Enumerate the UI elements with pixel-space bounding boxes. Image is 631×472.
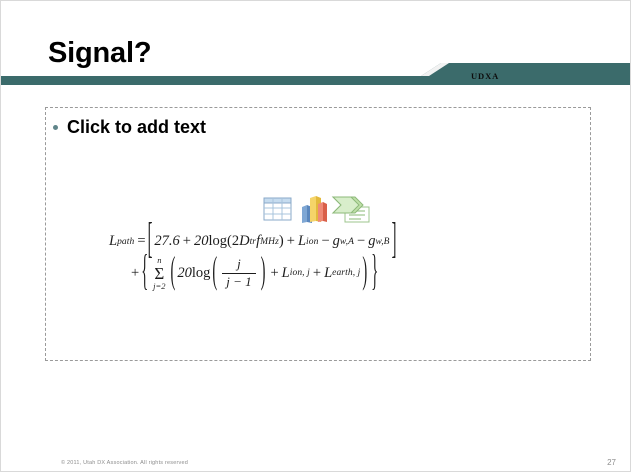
eq1-minus-1: − <box>321 233 329 250</box>
banner-shape <box>1 63 631 85</box>
equation-line-1: Lpath = [ 27.6 + 20log(2DtrfMHz) + Lion … <box>109 233 481 250</box>
eq1-d-var: D <box>239 233 249 250</box>
eq2-plus-2: + <box>270 265 278 282</box>
eq1-lion-sub: ion <box>306 237 318 247</box>
eq2-coef: 20 <box>177 265 192 282</box>
fraction-j-over-j-minus-1: j j − 1 <box>222 257 255 290</box>
insert-smartart-icon[interactable] <box>331 195 371 230</box>
eq1-coef: 20 <box>194 233 209 250</box>
eq1-g2-sub: w,B <box>375 237 389 247</box>
eq2-plus: + <box>131 265 139 282</box>
eq1-plus-2: + <box>287 233 295 250</box>
footer-page-number: 27 <box>607 458 616 467</box>
fraction-numerator: j <box>233 257 245 272</box>
eq1-lhs-var: L <box>109 233 117 250</box>
eq1-g1-sub: w,A <box>340 237 354 247</box>
eq2-open-brace: { <box>141 248 148 299</box>
placeholder-prompt-text: Click to add text <box>67 117 206 138</box>
eq1-close-paren: ) <box>279 233 284 250</box>
insert-object-icon-cluster <box>263 195 373 229</box>
eq2-plus-3: + <box>313 265 321 282</box>
sigma-icon: Σ <box>154 265 164 282</box>
eq1-g1-var: g <box>333 233 340 250</box>
eq2-inner-close-paren: ) <box>261 251 266 295</box>
eq2-close-brace: } <box>371 248 378 299</box>
eq2-lionj-sub: ion, j <box>290 268 310 278</box>
eq1-f-sub: MHz <box>260 237 279 247</box>
eq1-lhs-sub: path <box>117 237 134 247</box>
eq1-open-bracket: [ <box>148 216 153 267</box>
eq2-learth-var: L <box>324 265 332 282</box>
eq1-close-bracket: ] <box>392 216 397 267</box>
equation-block: Lpath = [ 27.6 + 20log(2DtrfMHz) + Lion … <box>101 233 481 290</box>
eq2-lionj-var: L <box>282 265 290 282</box>
eq1-const: 27.6 <box>154 233 179 250</box>
eq2-log: log <box>192 265 211 282</box>
insert-table-icon[interactable] <box>263 195 293 228</box>
eq1-log: log(2 <box>208 233 239 250</box>
fraction-denominator: j − 1 <box>222 275 255 290</box>
banner-brand-label: UDXA <box>471 71 499 81</box>
eq2-open-paren: ( <box>171 251 176 295</box>
placeholder-bullet-line[interactable]: Click to add text <box>53 117 206 138</box>
eq1-minus-2: − <box>357 233 365 250</box>
header-banner <box>1 63 631 85</box>
insert-chart-icon[interactable] <box>299 195 329 230</box>
summation-lower-limit: j=2 <box>153 282 165 291</box>
eq1-plus-1: + <box>183 233 191 250</box>
eq2-inner-open-paren: ( <box>212 251 217 295</box>
slide-canvas: Signal? UDXA Click to add text <box>0 0 631 472</box>
summation-operator: n Σ j=2 <box>153 256 165 290</box>
footer-copyright: © 2011, Utah DX Association. All rights … <box>61 460 188 466</box>
equation-line-2: + { n Σ j=2 ( 20log ( j j − 1 ) + Lion, … <box>131 256 481 290</box>
eq2-learth-sub: earth, j <box>332 268 360 278</box>
eq1-lion-var: L <box>298 233 306 250</box>
eq2-close-paren: ) <box>362 251 367 295</box>
bullet-point-icon <box>53 125 58 130</box>
